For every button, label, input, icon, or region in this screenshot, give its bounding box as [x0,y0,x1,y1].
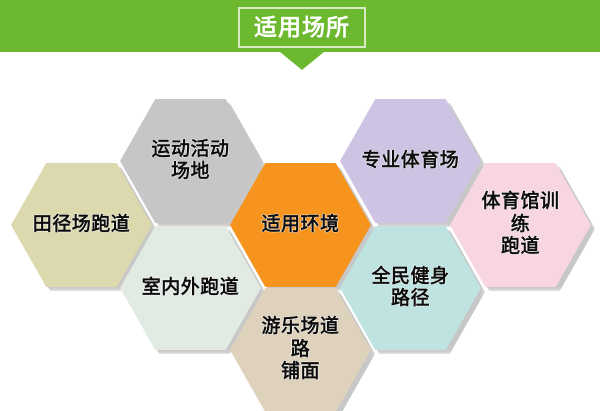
hex-cell-label: 运动活动场地 [143,139,239,184]
diagram-canvas: 适用场所 田径场跑道运动活动场地适用环境专业体育场体育馆训练跑道室内外跑道全民健… [0,0,600,411]
hex-cell-label: 全民健身路径 [363,266,459,311]
hex-cell-label: 专业体育场 [351,150,471,172]
honeycomb-group: 田径场跑道运动活动场地适用环境专业体育场体育馆训练跑道室内外跑道全民健身路径游乐… [0,0,600,411]
hex-cell-label: 适用环境 [245,214,357,236]
hex-cell-label: 游乐场道路铺面 [253,316,349,383]
hex-cell-label: 体育馆训练跑道 [473,191,569,258]
hex-cell-label: 田径场跑道 [22,214,142,236]
hex-cell-label: 室内外跑道 [131,277,251,299]
